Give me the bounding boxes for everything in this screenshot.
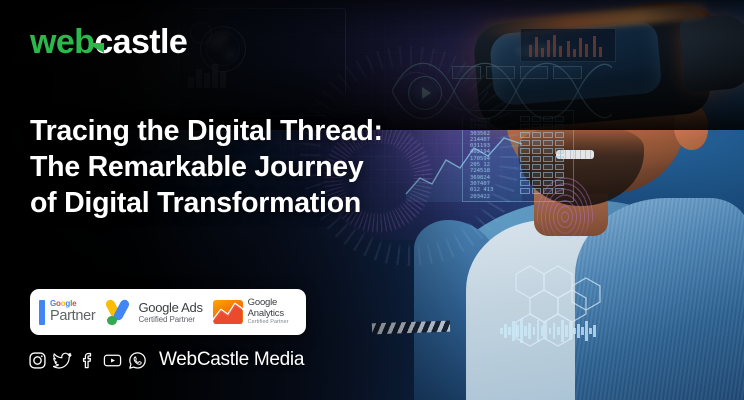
facebook-icon[interactable] xyxy=(78,351,97,370)
twitter-icon[interactable] xyxy=(53,351,72,370)
logo-text-castle: castle xyxy=(94,23,187,61)
google-analytics-icon xyxy=(213,300,243,324)
google-partner-icon xyxy=(39,300,45,325)
google-partner-label: Partner xyxy=(50,309,95,324)
instagram-icon[interactable] xyxy=(28,351,47,370)
google-analytics-line2: Analytics xyxy=(248,309,289,319)
headline-line-3: of Digital Transformation xyxy=(30,185,460,221)
page-title: Tracing the Digital Thread: The Remarkab… xyxy=(30,113,460,221)
social-handle-label: WebCastle Media xyxy=(159,349,304,371)
youtube-icon[interactable] xyxy=(103,351,122,370)
google-analytics-line1: Google xyxy=(248,298,289,308)
google-analytics-badge[interactable]: Google Analytics Certified Partner xyxy=(213,298,289,325)
google-ads-icon xyxy=(105,299,133,325)
google-wordmark: Google xyxy=(50,300,95,308)
google-ads-title: Google Ads xyxy=(138,301,202,314)
headline-line-1: Tracing the Digital Thread: xyxy=(30,113,460,149)
blog-banner: 014213 17341 303562 214407 031193 402194… xyxy=(0,0,744,400)
google-analytics-subtitle: Certified Partner xyxy=(248,320,289,325)
whatsapp-icon[interactable] xyxy=(128,351,147,370)
google-ads-badge[interactable]: Google Ads Certified Partner xyxy=(105,299,202,325)
webcastle-logo[interactable]: webcastle xyxy=(30,25,187,59)
headline-line-2: The Remarkable Journey xyxy=(30,149,460,185)
social-links-row: WebCastle Media xyxy=(28,349,304,371)
partner-badges-bar: Google Partner Google Ads Certified Part… xyxy=(30,289,306,335)
logo-text-web: web xyxy=(30,23,94,61)
google-letter-e: e xyxy=(72,299,76,308)
google-partner-badge[interactable]: Google Partner xyxy=(39,300,95,325)
google-ads-subtitle: Certified Partner xyxy=(138,316,202,324)
